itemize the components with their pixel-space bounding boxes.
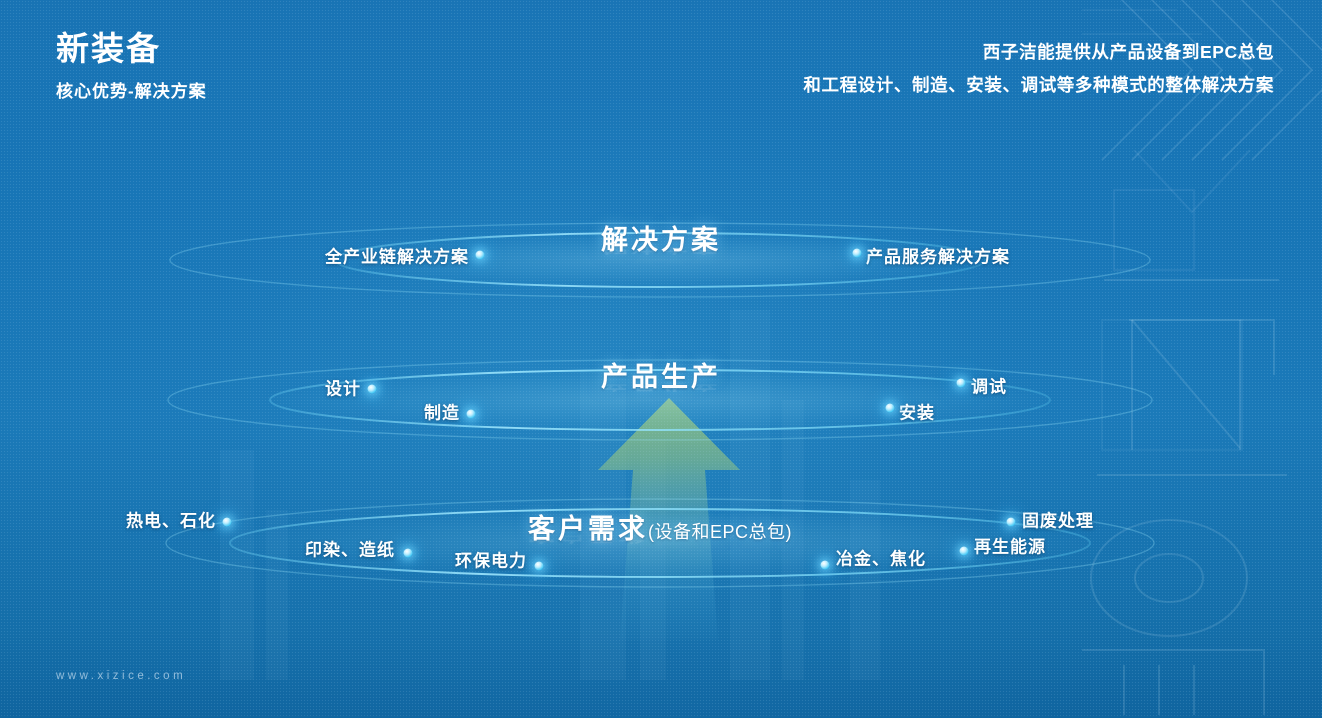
node-label-guf ei-chuli: 固废处理 xyxy=(1022,507,1094,532)
header-tagline-line1: 西子洁能提供从产品设备到EPC总包 xyxy=(803,36,1274,69)
node-dot-gufei-chuli xyxy=(1007,518,1016,527)
node-label-yejin-jiaohua: 冶金、焦化 xyxy=(836,545,926,570)
node-dot-redian-shihua xyxy=(223,518,232,527)
ring-title-solution: 解决方案 解决方案 xyxy=(561,218,761,298)
header-tagline: 西子洁能提供从产品设备到EPC总包 和工程设计、制造、安装、调试等多种模式的整体… xyxy=(803,36,1274,103)
node-dot-chan-pin-fu-wu xyxy=(853,249,862,258)
node-dot-tiaoshi xyxy=(957,379,966,388)
node-dot-anzhuang xyxy=(886,404,895,413)
node-label-quan-chan-ye-lian: 全产业链解决方案 xyxy=(325,243,469,268)
ring-title-production-reflection: 产品生产 xyxy=(571,375,751,396)
node-dot-huanbao-dianli xyxy=(535,562,544,571)
ring-title-production: 产品生产 产品生产 xyxy=(571,355,751,435)
node-dot-zaisheng-nengyuan xyxy=(960,547,969,556)
node-label-redian-shihua: 热电、石化 xyxy=(126,507,216,532)
node-dot-yinran-zaozhi xyxy=(404,549,413,558)
ring-title-demand-reflection: 客户需求(设备和EPC总包) xyxy=(470,527,850,548)
node-label-tiaoshi: 调试 xyxy=(971,373,1007,398)
node-dot-yejin-jiaohua xyxy=(821,561,830,570)
node-dot-zhizao xyxy=(467,410,476,419)
ring-title-solution-reflection: 解决方案 xyxy=(561,238,761,259)
slide-canvas: 新装备 核心优势-解决方案 西子洁能提供从产品设备到EPC总包 和工程设计、制造… xyxy=(0,0,1322,718)
header-tagline-line2: 和工程设计、制造、安装、调试等多种模式的整体解决方案 xyxy=(803,69,1274,102)
node-label-zaisheng-nengyuan: 再生能源 xyxy=(974,533,1046,558)
node-label-huanbao-dianli: 环保电力 xyxy=(455,547,527,572)
node-label-chan-pin-fu-wu: 产品服务解决方案 xyxy=(866,243,1010,268)
footer-url: www.xizice.com xyxy=(56,670,186,682)
node-label-yinran-zaozhi: 印染、造纸 xyxy=(305,536,395,561)
node-dot-quan-chan-ye-lian xyxy=(476,251,485,260)
node-label-zhizao: 制造 xyxy=(424,399,460,424)
page-title: 新装备 xyxy=(56,30,207,68)
node-dot-sheji xyxy=(368,385,377,394)
page-title-block: 新装备 核心优势-解决方案 xyxy=(56,30,207,102)
node-label-sheji: 设计 xyxy=(325,375,361,400)
page-subtitle: 核心优势-解决方案 xyxy=(56,77,207,102)
ring-title-demand: 客户需求(设备和EPC总包) 客户需求(设备和EPC总包) xyxy=(470,507,850,587)
node-label-anzhuang: 安装 xyxy=(899,399,935,424)
